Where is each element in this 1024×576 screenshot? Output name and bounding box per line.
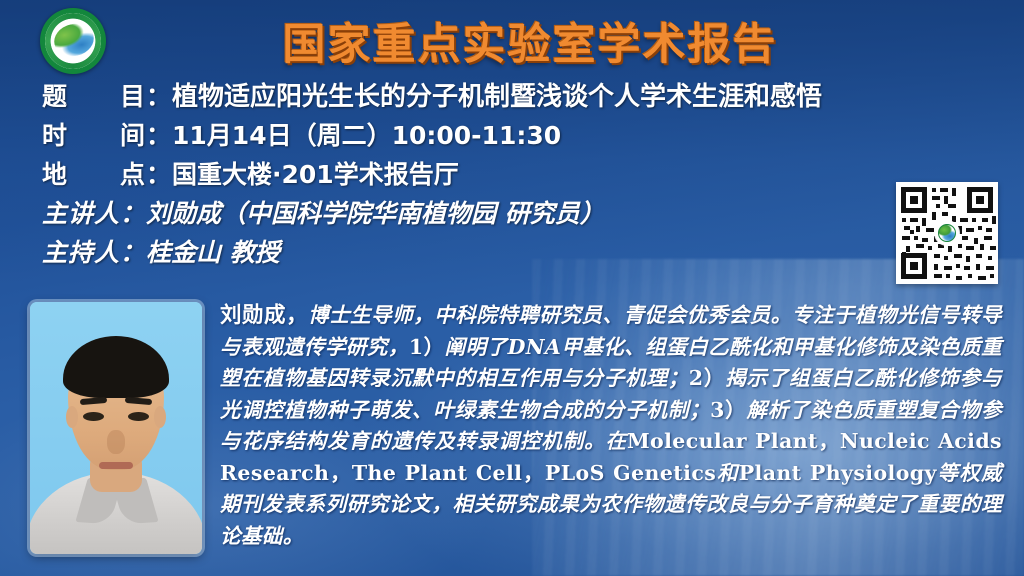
venue-label: 地 点： — [42, 155, 172, 191]
detail-row-venue: 地 点： 国重大楼·201学术报告厅 — [42, 155, 1024, 191]
qr-finder-top-left — [901, 187, 927, 213]
seminar-poster: 国家重点实验室学术报告 题 目： 植物适应阳光生长的分子机制暨浅谈个人学术生涯和… — [0, 0, 1024, 576]
time-label: 时 间： — [42, 116, 172, 152]
host-value: 桂金山 教授 — [146, 233, 280, 269]
bio-journal-list-2: Plant Physiology — [739, 461, 937, 485]
bio-enum-1: 1） — [409, 335, 445, 359]
portrait-ear-left — [66, 406, 78, 428]
speaker-biography: 刘勋成，博士生导师，中科院特聘研究员、青促会优秀会员。专注于植物光信号转导与表观… — [212, 296, 1008, 552]
qr-code[interactable] — [896, 182, 998, 284]
detail-row-topic: 题 目： 植物适应阳光生长的分子机制暨浅谈个人学术生涯和感悟 — [42, 76, 1024, 113]
topic-value: 植物适应阳光生长的分子机制暨浅谈个人学术生涯和感悟 — [172, 76, 822, 113]
speaker-value: 刘勋成（中国科学院华南植物园 研究员） — [146, 194, 605, 230]
bio-enum-3: 3） — [710, 398, 746, 422]
bio-separator: ， — [286, 303, 308, 328]
speaker-portrait — [30, 302, 202, 554]
logo-swirl-icon — [51, 20, 98, 61]
poster-header: 国家重点实验室学术报告 — [0, 0, 1024, 74]
portrait-eye-left — [83, 412, 104, 421]
portrait-nose — [107, 430, 125, 454]
qr-center-logo-icon — [935, 221, 959, 245]
venue-value: 国重大楼·201学术报告厅 — [172, 155, 459, 191]
detail-row-time: 时 间： 11月14日（周二）10:00-11:30 — [42, 116, 1024, 152]
qr-matrix — [900, 186, 994, 280]
time-value: 11月14日（周二）10:00-11:30 — [172, 116, 561, 152]
qr-finder-top-right — [967, 187, 993, 213]
seminar-details: 题 目： 植物适应阳光生长的分子机制暨浅谈个人学术生涯和感悟 时 间： 11月1… — [0, 74, 1024, 269]
institute-seal-logo — [40, 8, 106, 74]
host-label: 主持人： — [42, 233, 146, 269]
detail-row-speaker: 主讲人： 刘勋成（中国科学院华南植物园 研究员） — [42, 194, 1024, 230]
bio-enum-2: 2） — [689, 366, 725, 390]
bio-speaker-name: 刘勋成 — [220, 303, 286, 328]
qr-finder-bottom-left — [901, 253, 927, 279]
bio-conjunction: 和 — [716, 461, 739, 485]
logo-ring — [45, 13, 101, 69]
topic-label: 题 目： — [42, 77, 172, 113]
page-title: 国家重点实验室学术报告 — [106, 10, 1024, 72]
speaker-label: 主讲人： — [42, 194, 146, 230]
portrait-mouth — [99, 462, 133, 469]
portrait-ear-right — [154, 406, 166, 428]
detail-row-host: 主持人： 桂金山 教授 — [42, 233, 1024, 269]
portrait-eye-right — [128, 412, 149, 421]
